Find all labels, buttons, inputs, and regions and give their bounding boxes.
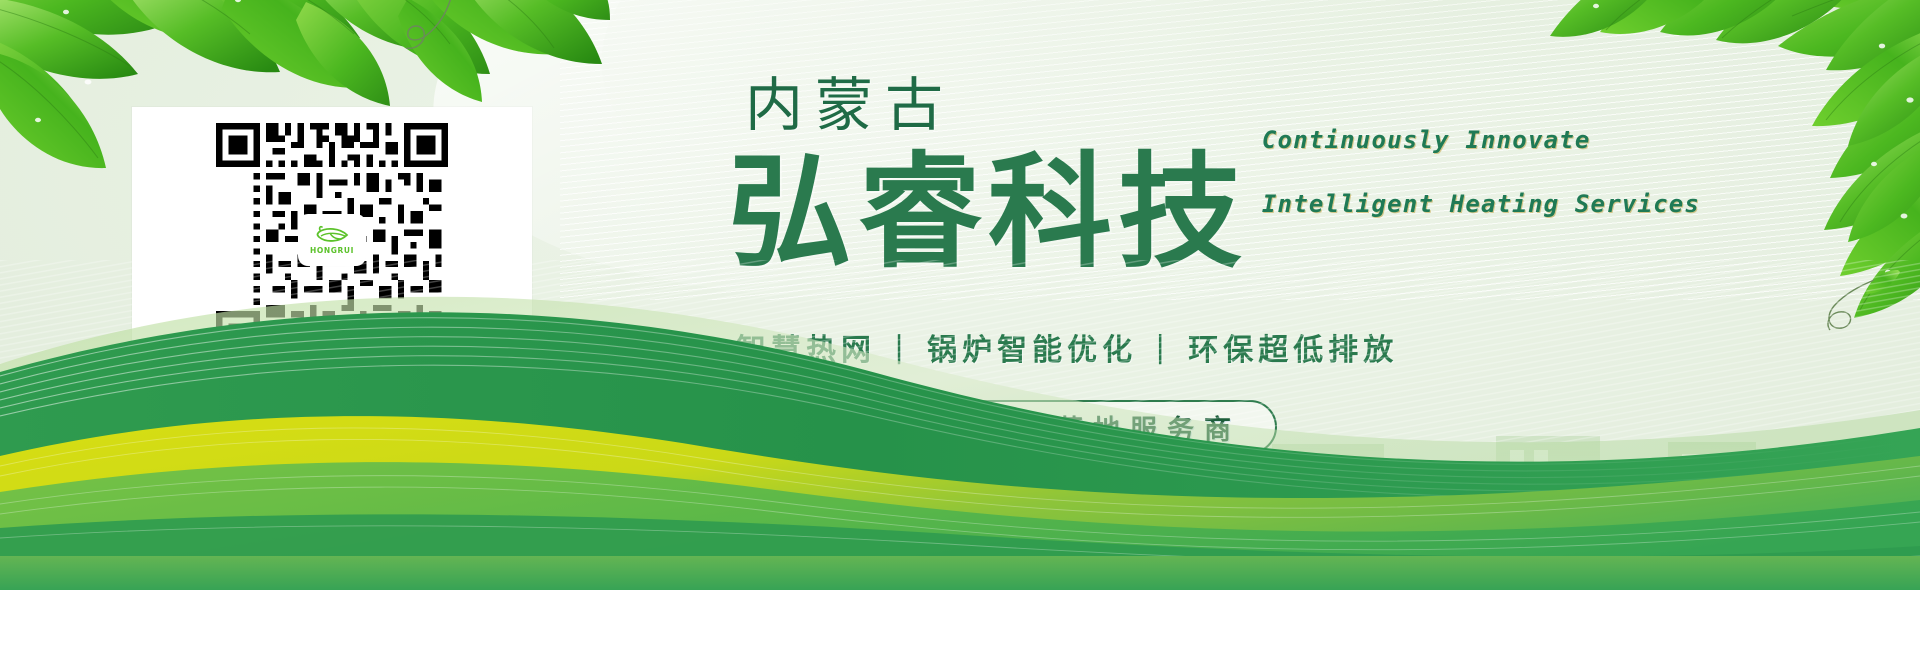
- leaf-icon: [314, 225, 350, 247]
- qr-center-logo: HONGRUI: [301, 217, 363, 263]
- company-banner: HONGRUI 内蒙古 Continuously Innovate Intell…: [0, 0, 1920, 590]
- english-tagline-line2: Intelligent Heating Services: [1262, 190, 1700, 218]
- wave-graphic: [0, 260, 1920, 590]
- banner-page: HONGRUI 内蒙古 Continuously Innovate Intell…: [0, 0, 1920, 659]
- tendril-decoration-left: [400, 0, 480, 64]
- qr-logo-label: HONGRUI: [310, 246, 354, 255]
- english-tagline-line1: Continuously Innovate: [1262, 126, 1591, 154]
- province-label: 内蒙古: [745, 76, 955, 134]
- banner-footer-bar: [0, 556, 1920, 590]
